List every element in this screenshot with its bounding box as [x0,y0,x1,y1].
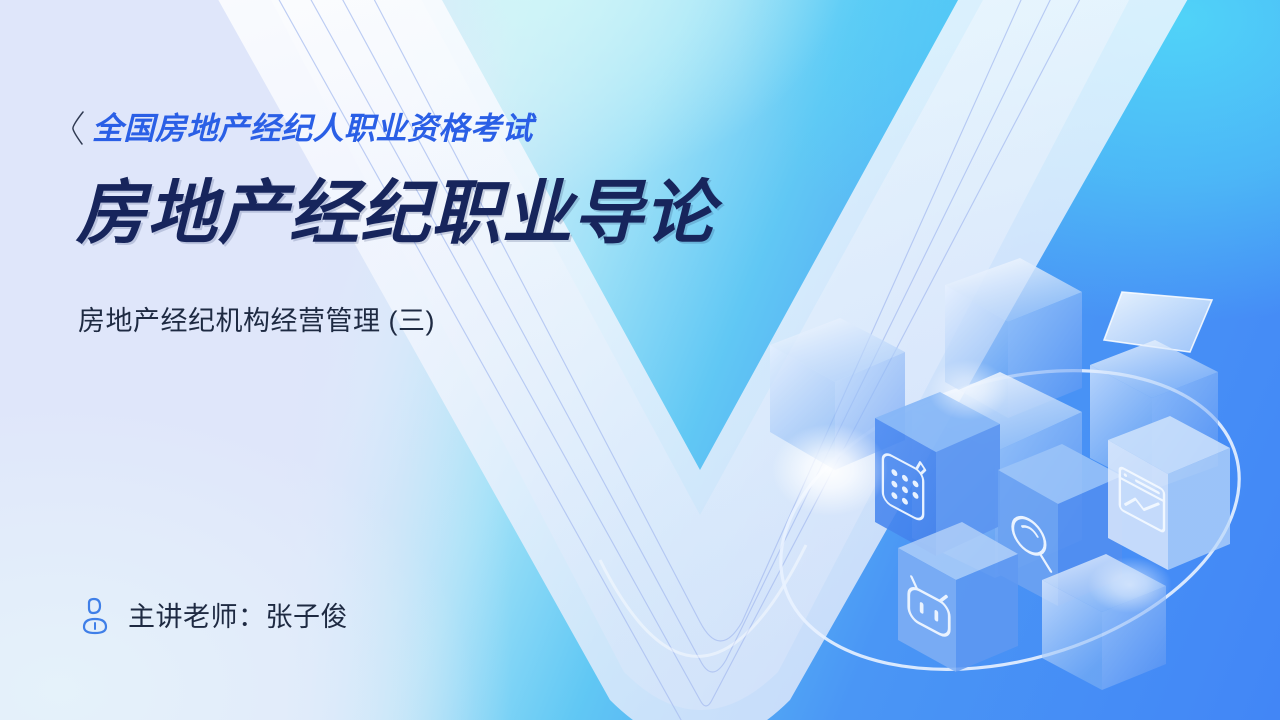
presenter-row: 主讲老师：张子俊 [78,597,348,637]
slide-content: 全国房地产经纪人职业资格考试 房地产经纪职业导论 房地产经纪机构经营管理 (三)… [0,0,1280,720]
presenter-label: 主讲老师：张子俊 [128,604,348,631]
page-title: 房地产经纪职业导论 [76,178,715,248]
person-icon [78,597,112,637]
title-slide: 全国房地产经纪人职业资格考试 房地产经纪职业导论 房地产经纪机构经营管理 (三)… [0,0,1280,720]
eyebrow-row: 全国房地产经纪人职业资格考试 [68,108,533,148]
left-angle-bracket-icon [68,108,86,148]
page-subtitle: 房地产经纪机构经营管理 (三) [78,305,435,337]
eyebrow-label: 全国房地产经纪人职业资格考试 [92,113,533,144]
